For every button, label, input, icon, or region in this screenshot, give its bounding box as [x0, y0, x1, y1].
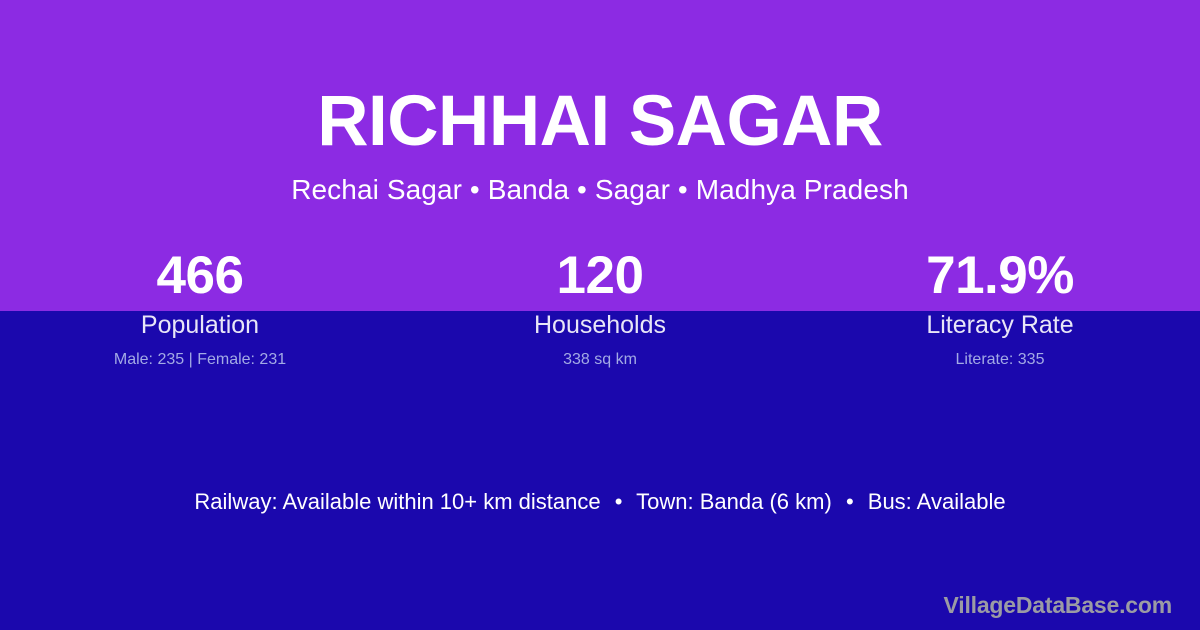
- stats-row: 466 Population Male: 235 | Female: 231 1…: [0, 248, 1200, 370]
- stat-value: 120: [400, 248, 800, 304]
- page-title: RICHHAI SAGAR: [0, 0, 1200, 157]
- info-separator: •: [607, 489, 631, 514]
- village-info-card: RICHHAI SAGAR Rechai Sagar • Banda • Sag…: [0, 0, 1200, 630]
- info-separator: •: [838, 489, 862, 514]
- stat-value: 71.9%: [800, 248, 1200, 304]
- town-info: Town: Banda (6 km): [636, 489, 832, 514]
- stat-label: Population: [0, 311, 400, 340]
- railway-info: Railway: Available within 10+ km distanc…: [194, 489, 600, 514]
- stat-sublabel: 338 sq km: [400, 350, 800, 370]
- stat-value: 466: [0, 248, 400, 304]
- stat-literacy-rate: 71.9% Literacy Rate Literate: 335: [800, 248, 1200, 370]
- stat-sublabel: Literate: 335: [800, 350, 1200, 370]
- stat-label: Literacy Rate: [800, 311, 1200, 340]
- card-header: RICHHAI SAGAR Rechai Sagar • Banda • Sag…: [0, 0, 1200, 204]
- stat-population: 466 Population Male: 235 | Female: 231: [0, 248, 400, 370]
- bus-info: Bus: Available: [868, 489, 1006, 514]
- stat-sublabel: Male: 235 | Female: 231: [0, 350, 400, 370]
- transport-info-line: Railway: Available within 10+ km distanc…: [0, 487, 1200, 517]
- stat-households: 120 Households 338 sq km: [400, 248, 800, 370]
- site-brand: VillageDataBase.com: [944, 590, 1172, 620]
- breadcrumb: Rechai Sagar • Banda • Sagar • Madhya Pr…: [0, 157, 1200, 204]
- stat-label: Households: [400, 311, 800, 340]
